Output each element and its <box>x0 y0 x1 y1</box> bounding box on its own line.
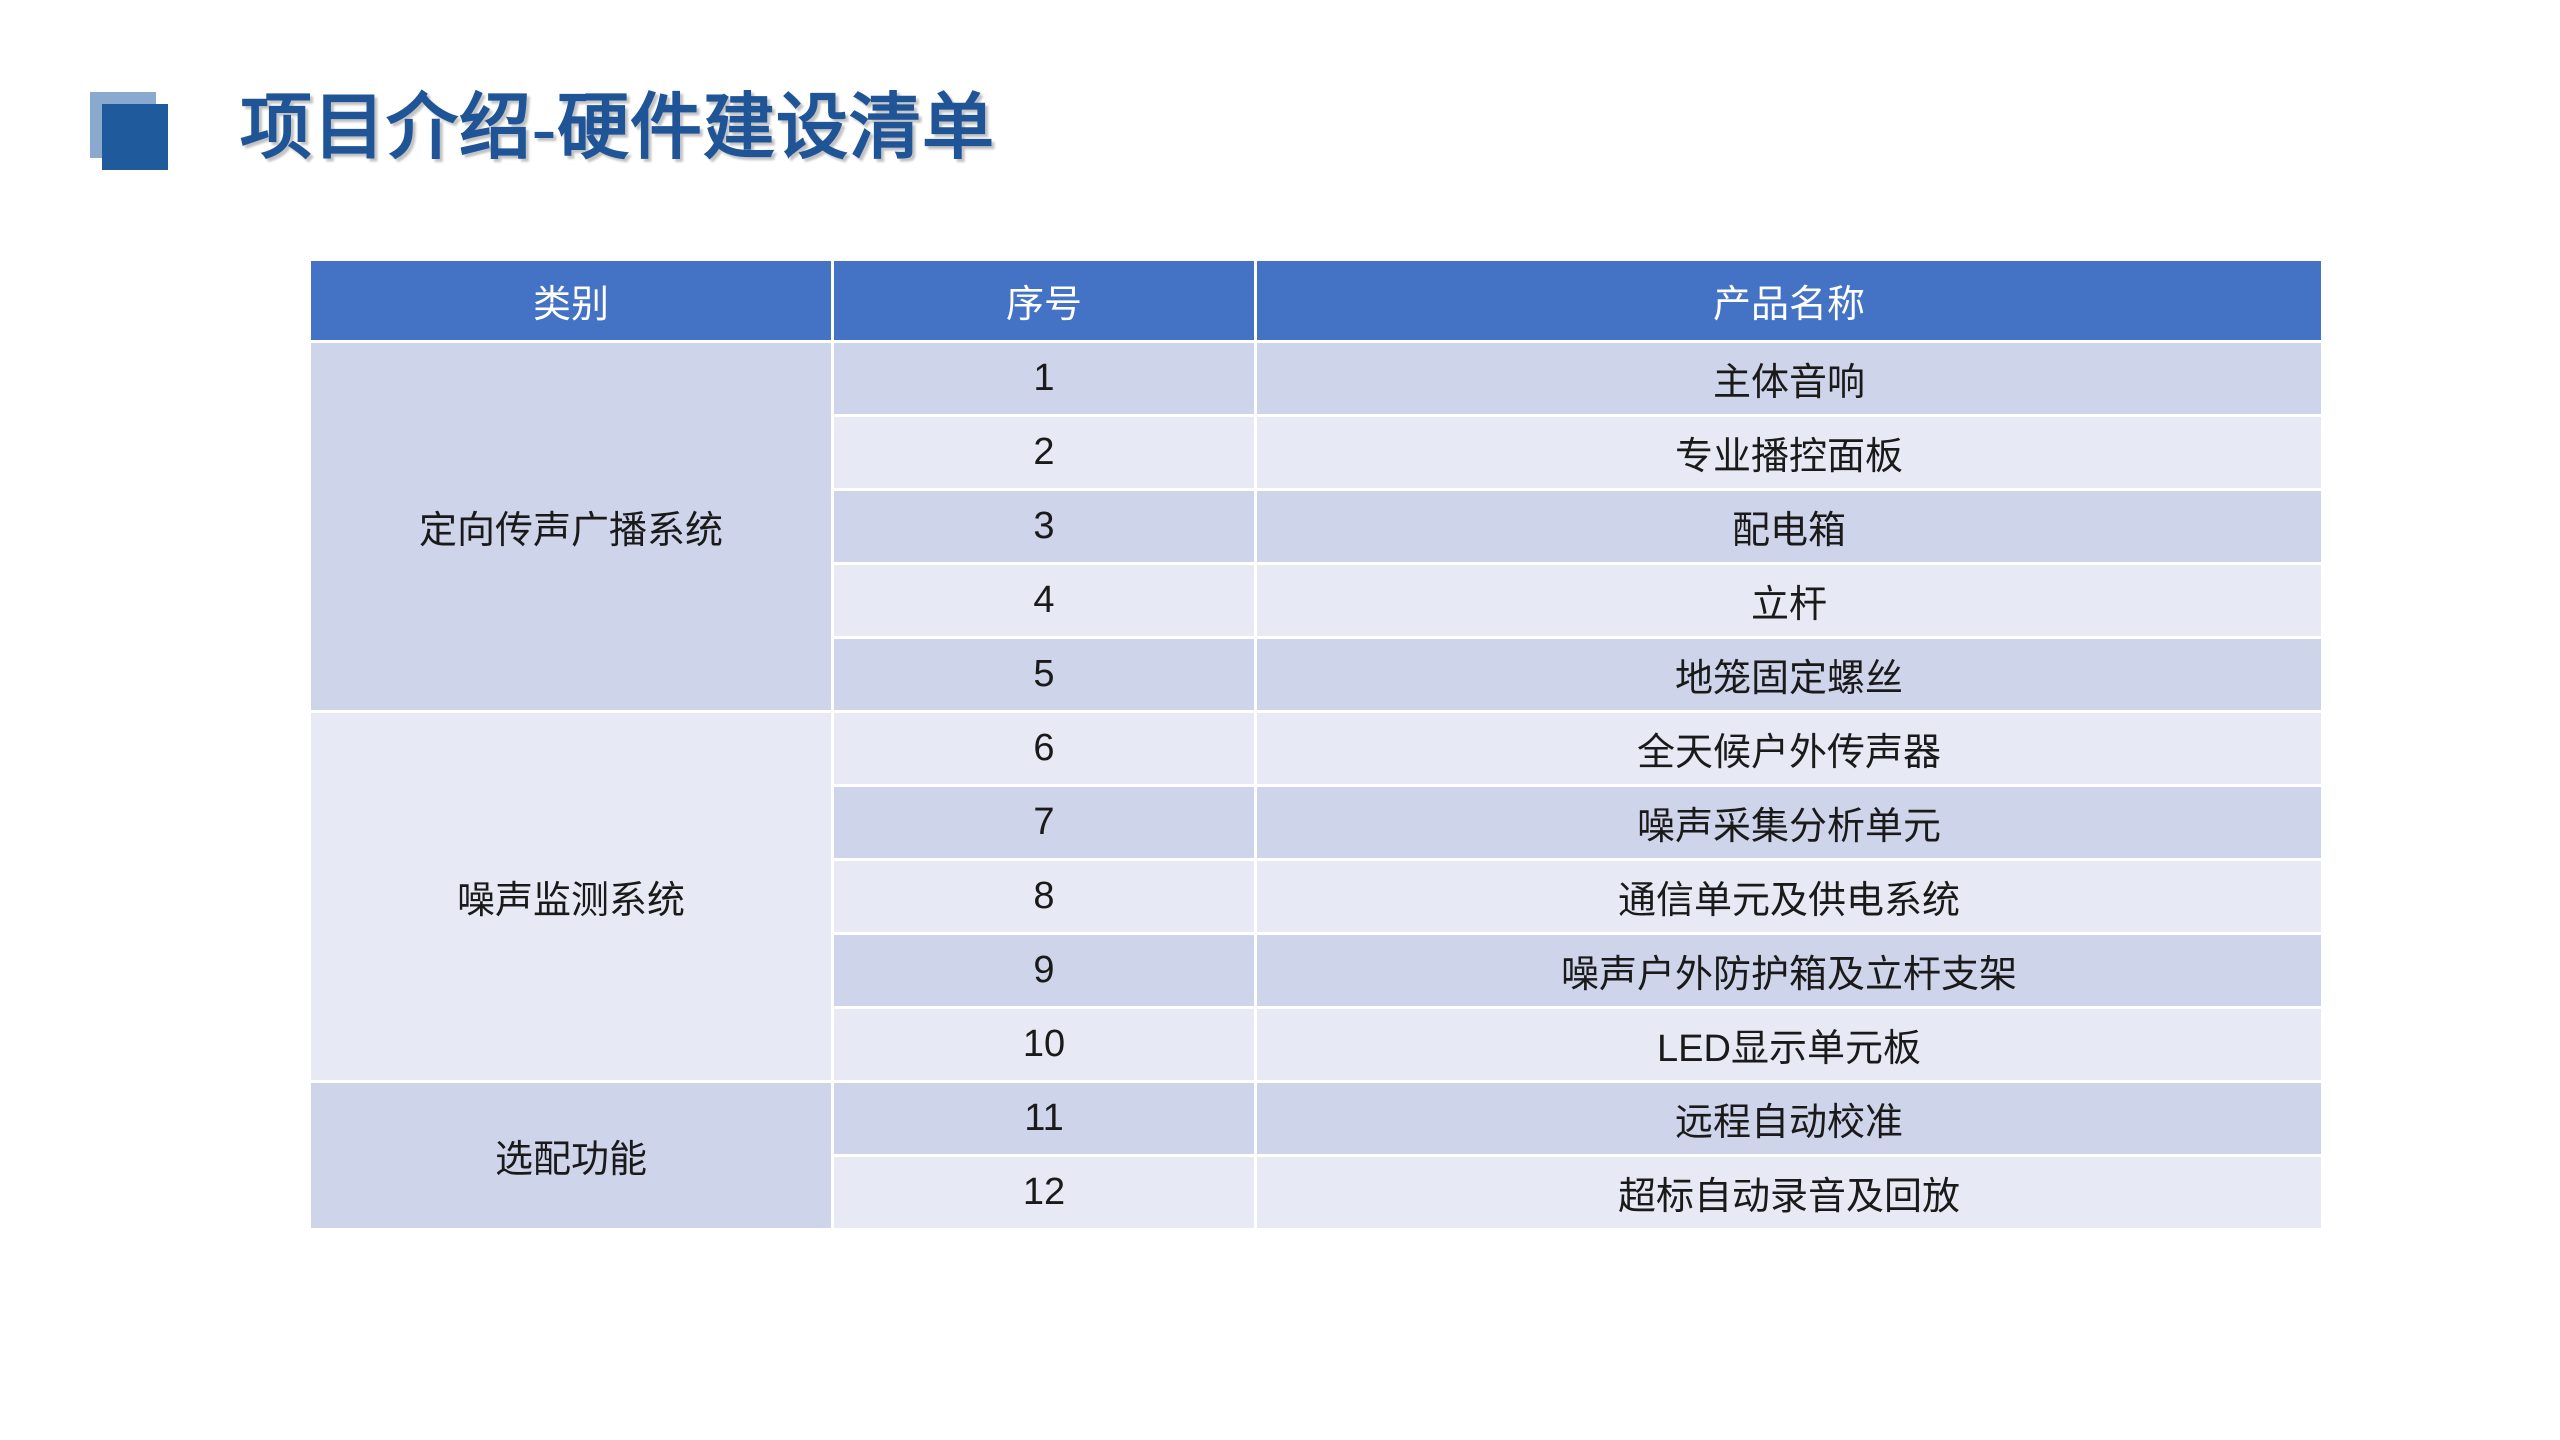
table-row: 定向传声广播系统1主体音响 <box>311 343 2321 414</box>
product-name-cell: 全天候户外传声器 <box>1257 713 2321 784</box>
table-header-row: 类别 序号 产品名称 <box>311 261 2321 340</box>
product-name-cell: 通信单元及供电系统 <box>1257 861 2321 932</box>
index-cell: 3 <box>834 491 1254 562</box>
table-body: 定向传声广播系统1主体音响2专业播控面板3配电箱4立杆5地笼固定螺丝噪声监测系统… <box>311 343 2321 1228</box>
product-name-cell: 专业播控面板 <box>1257 417 2321 488</box>
index-cell: 10 <box>834 1009 1254 1080</box>
column-header-product: 产品名称 <box>1257 261 2321 340</box>
index-cell: 8 <box>834 861 1254 932</box>
product-name-cell: 噪声户外防护箱及立杆支架 <box>1257 935 2321 1006</box>
table-row: 选配功能11远程自动校准 <box>311 1083 2321 1154</box>
index-cell: 9 <box>834 935 1254 1006</box>
index-cell: 6 <box>834 713 1254 784</box>
hardware-build-list-table: 类别 序号 产品名称 定向传声广播系统1主体音响2专业播控面板3配电箱4立杆5地… <box>308 258 2324 1231</box>
slide-title-block: 项目介绍-硬件建设清单 <box>0 0 2560 200</box>
category-cell: 定向传声广播系统 <box>311 343 831 710</box>
marker-square-front <box>102 104 168 170</box>
table-row: 噪声监测系统6全天候户外传声器 <box>311 713 2321 784</box>
product-name-cell: 主体音响 <box>1257 343 2321 414</box>
index-cell: 12 <box>834 1157 1254 1228</box>
product-name-cell: 远程自动校准 <box>1257 1083 2321 1154</box>
index-cell: 1 <box>834 343 1254 414</box>
product-name-cell: LED显示单元板 <box>1257 1009 2321 1080</box>
product-name-cell: 超标自动录音及回放 <box>1257 1157 2321 1228</box>
index-cell: 5 <box>834 639 1254 710</box>
index-cell: 7 <box>834 787 1254 858</box>
category-cell: 选配功能 <box>311 1083 831 1228</box>
column-header-index: 序号 <box>834 261 1254 340</box>
index-cell: 2 <box>834 417 1254 488</box>
page-title: 项目介绍-硬件建设清单 <box>240 68 995 173</box>
product-name-cell: 地笼固定螺丝 <box>1257 639 2321 710</box>
product-name-cell: 配电箱 <box>1257 491 2321 562</box>
product-name-cell: 噪声采集分析单元 <box>1257 787 2321 858</box>
layered-square-icon <box>90 92 162 164</box>
column-header-category: 类别 <box>311 261 831 340</box>
category-cell: 噪声监测系统 <box>311 713 831 1080</box>
product-name-cell: 立杆 <box>1257 565 2321 636</box>
table-header: 类别 序号 产品名称 <box>311 261 2321 340</box>
index-cell: 11 <box>834 1083 1254 1154</box>
index-cell: 4 <box>834 565 1254 636</box>
